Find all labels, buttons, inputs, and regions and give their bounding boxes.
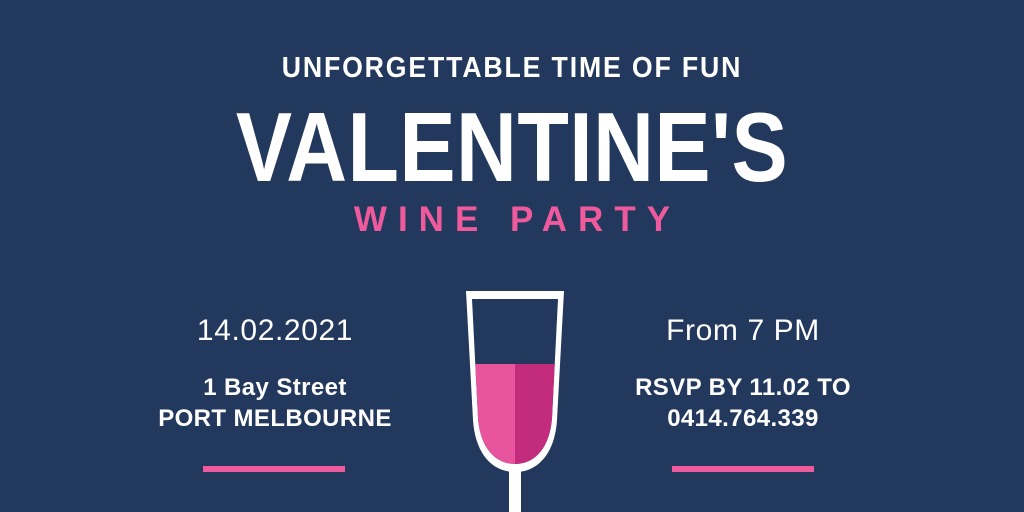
rsvp-info: RSVP BY 11.02 TO 0414.764.339	[593, 372, 893, 434]
valentines-wine-party-poster: UNFORGETTABLE TIME OF FUN VALENTINE'S WI…	[0, 0, 1024, 512]
venue-address: 1 Bay Street PORT MELBOURNE	[125, 372, 425, 434]
poster-tagline: UNFORGETTABLE TIME OF FUN	[41, 52, 983, 85]
details-left-column: 14.02.2021 1 Bay Street PORT MELBOURNE	[125, 312, 425, 434]
venue-suburb: PORT MELBOURNE	[125, 403, 425, 434]
rsvp-deadline: RSVP BY 11.02 TO	[593, 372, 893, 403]
divider-rule-right	[672, 466, 814, 472]
event-start-time: From 7 PM	[593, 312, 893, 350]
poster-subheadline: WINE PARTY	[0, 200, 1024, 240]
divider-rule-left	[203, 466, 345, 472]
venue-street: 1 Bay Street	[125, 372, 425, 403]
event-date: 14.02.2021	[125, 312, 425, 350]
poster-headline: VALENTINE'S	[72, 98, 953, 198]
wine-glass-icon	[440, 288, 590, 512]
glass-stem	[509, 468, 521, 512]
rsvp-phone-number: 0414.764.339	[593, 403, 893, 434]
details-right-column: From 7 PM RSVP BY 11.02 TO 0414.764.339	[593, 312, 893, 434]
wine-fill	[468, 364, 563, 474]
